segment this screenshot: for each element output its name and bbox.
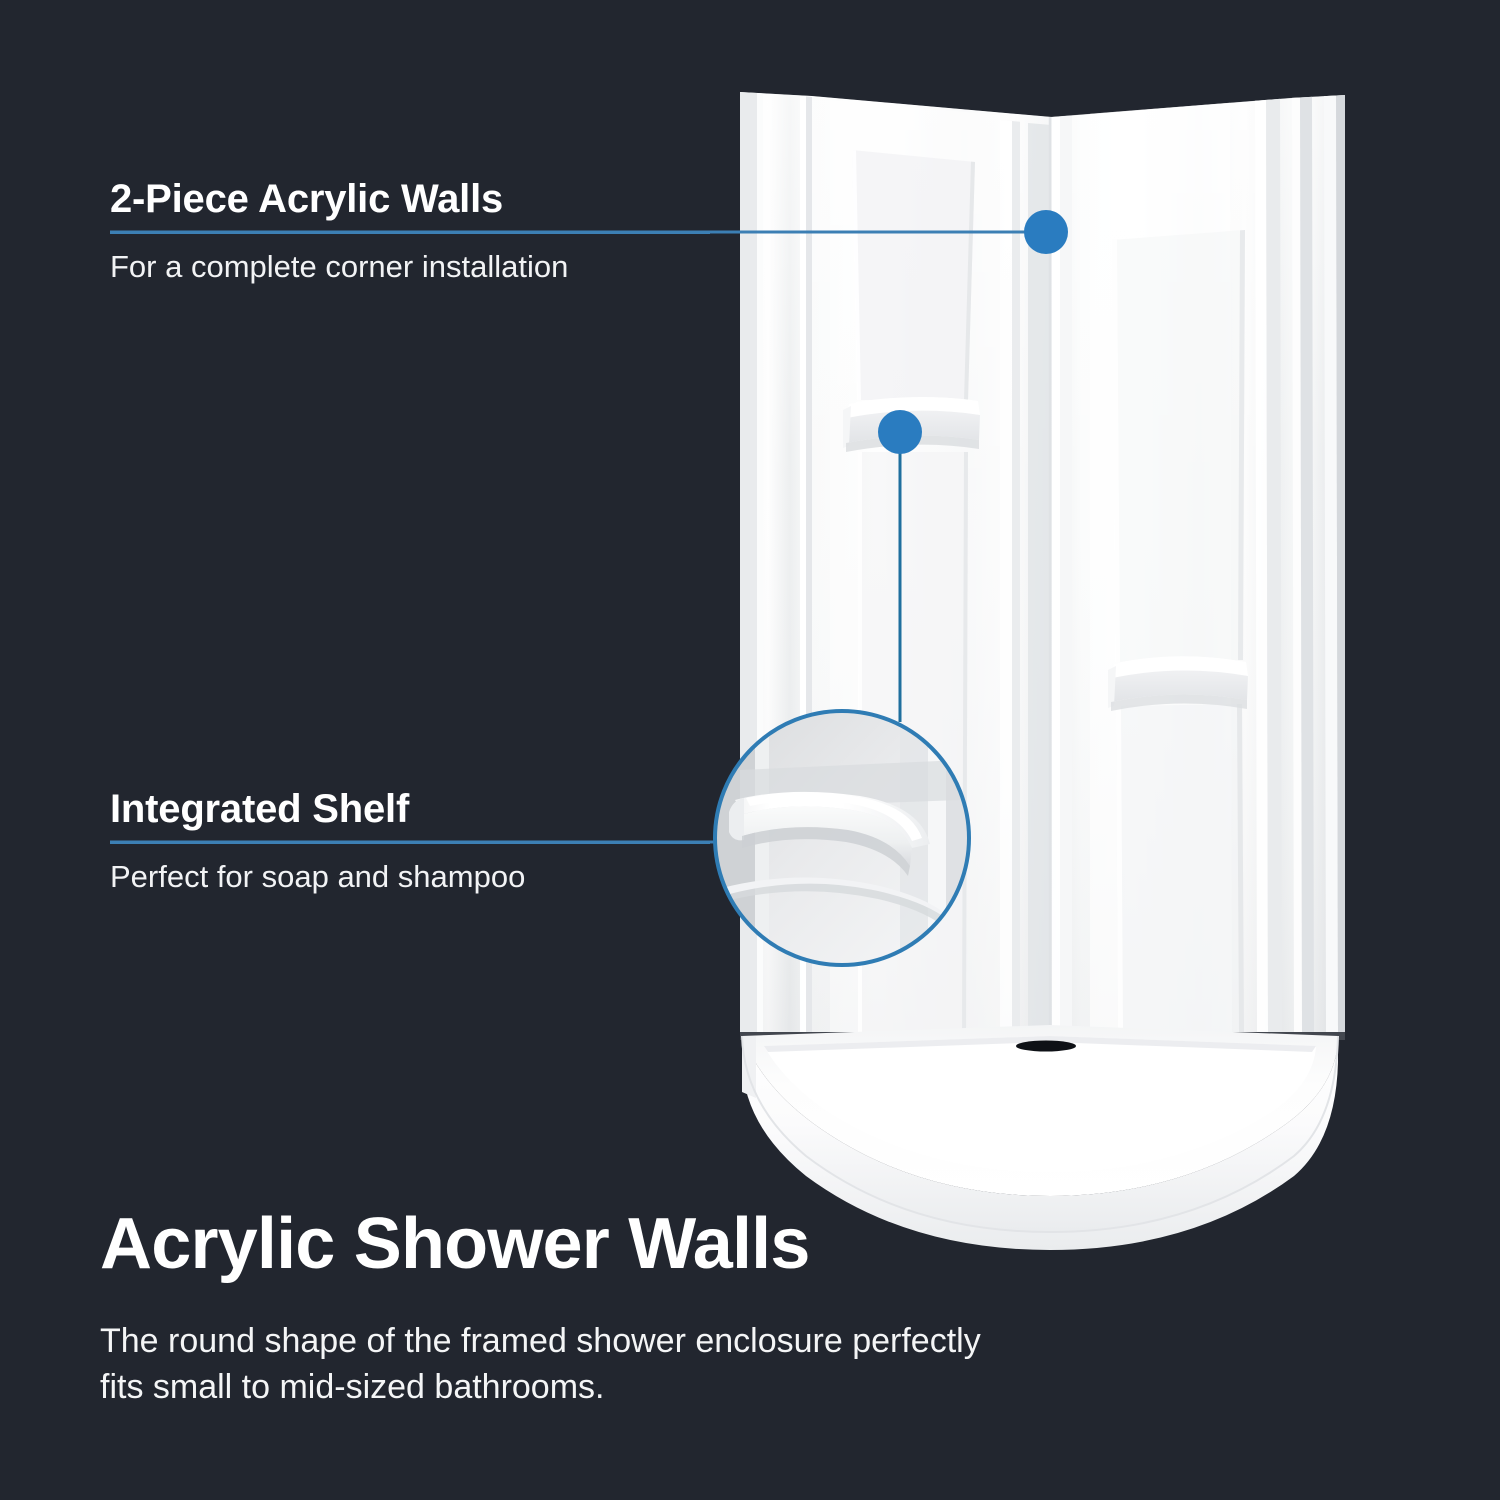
callout-subtitle: Perfect for soap and shampoo (110, 859, 710, 896)
shelf-magnifier[interactable] (715, 711, 971, 967)
callout-underline (110, 841, 710, 844)
callout-subtitle: For a complete corner installation (110, 249, 710, 286)
bottom-text-block: Acrylic Shower Walls The round shape of … (100, 1208, 1160, 1411)
callout-title: 2-Piece Acrylic Walls (110, 178, 710, 220)
callout-title: Integrated Shelf (110, 788, 710, 830)
callout-integrated-shelf: Integrated Shelf Perfect for soap and sh… (110, 788, 710, 896)
description-line-2: fits small to mid-sized bathrooms. (100, 1365, 1100, 1411)
page-title: Acrylic Shower Walls (100, 1208, 1160, 1281)
page-description: The round shape of the framed shower enc… (100, 1319, 1100, 1410)
infographic-page: 2-Piece Acrylic Walls For a complete cor… (0, 0, 1500, 1500)
callout-underline (110, 231, 710, 234)
callout-dot-shelf[interactable] (878, 410, 922, 454)
callout-two-piece-acrylic-walls: 2-Piece Acrylic Walls For a complete cor… (110, 178, 710, 286)
description-line-1: The round shape of the framed shower enc… (100, 1319, 1100, 1365)
callout-dot-walls[interactable] (1024, 210, 1068, 254)
